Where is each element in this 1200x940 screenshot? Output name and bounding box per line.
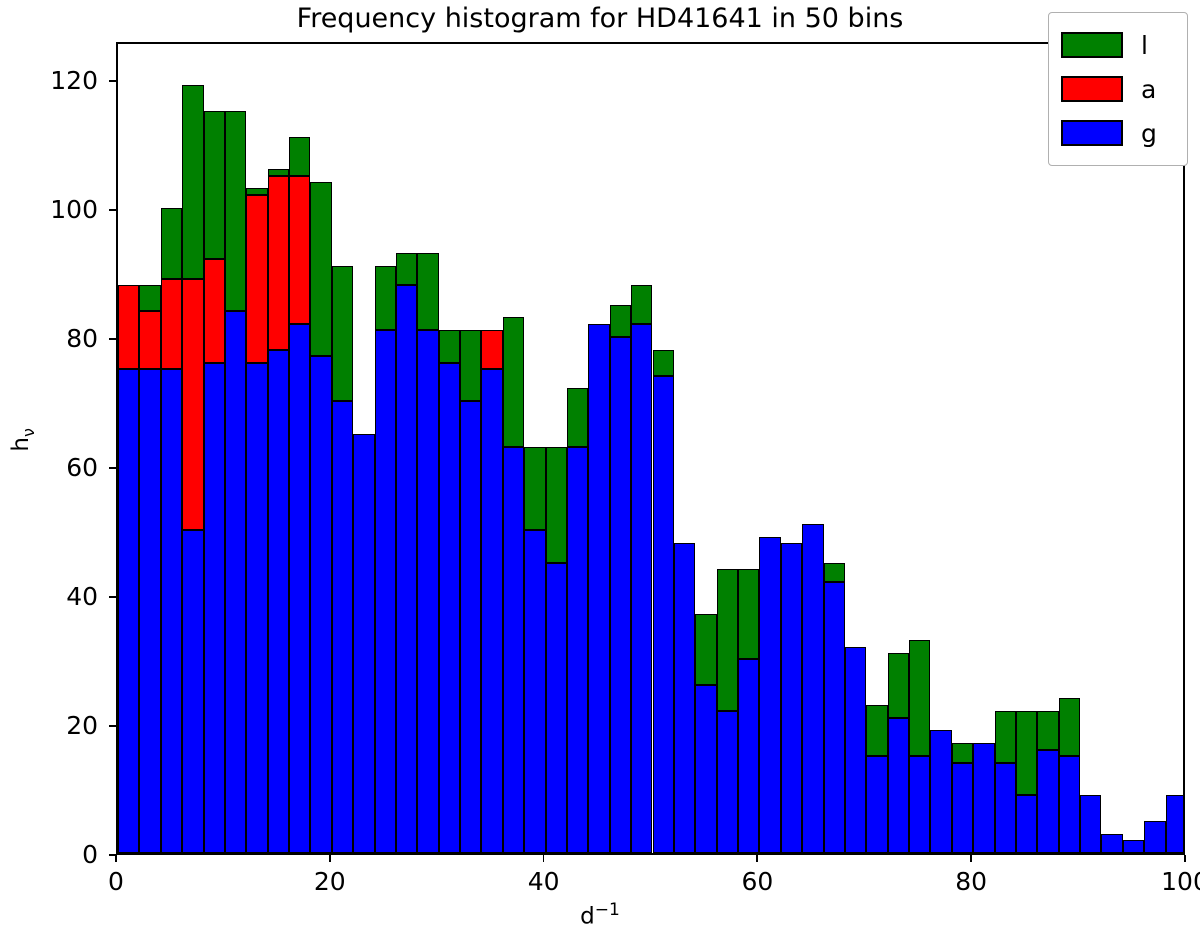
bar-segment-g <box>610 337 631 853</box>
bar-segment-g <box>674 543 695 853</box>
legend-item: l <box>1061 23 1173 67</box>
bar-segment-a <box>289 176 310 324</box>
bar-segment-g <box>182 530 203 853</box>
bar-segment-g <box>695 685 716 853</box>
bar-segment-g <box>631 324 652 853</box>
histogram-bar <box>246 42 267 853</box>
bar-segment-l <box>268 169 289 175</box>
histogram-bar <box>332 42 353 853</box>
histogram-bar <box>439 42 460 853</box>
bar-segment-l <box>738 569 759 659</box>
x-tick-label: 40 <box>499 869 589 894</box>
histogram-bar <box>973 42 994 853</box>
x-tick-label: 20 <box>285 869 375 894</box>
bar-segment-l <box>375 266 396 331</box>
bar-segment-l <box>824 563 845 582</box>
x-tick-mark <box>1184 855 1186 862</box>
bar-segment-l <box>995 711 1016 763</box>
histogram-bar <box>674 42 695 853</box>
histogram-bar <box>503 42 524 853</box>
bar-segment-g <box>289 324 310 853</box>
bar-segment-l <box>204 111 225 259</box>
bar-segment-g <box>1123 840 1144 853</box>
bar-segment-g <box>1144 821 1165 853</box>
bar-segment-g <box>1037 750 1058 853</box>
bar-segment-g <box>396 285 417 853</box>
bar-segment-g <box>845 647 866 853</box>
bar-segment-g <box>653 376 674 853</box>
bar-segment-l <box>866 705 887 757</box>
bar-segment-g <box>888 718 909 854</box>
histogram-bar <box>866 42 887 853</box>
bar-segment-l <box>417 253 438 330</box>
bar-segment-l <box>139 285 160 311</box>
bar-segment-l <box>631 285 652 324</box>
bar-segment-l <box>524 447 545 531</box>
bar-segment-l <box>546 447 567 563</box>
bar-segment-l <box>182 85 203 279</box>
histogram-bar <box>888 42 909 853</box>
bar-segment-g <box>824 582 845 853</box>
histogram-bar <box>738 42 759 853</box>
bar-segment-l <box>952 743 973 762</box>
bar-segment-l <box>717 569 738 711</box>
bar-segment-g <box>246 363 267 853</box>
x-tick-mark <box>756 855 758 862</box>
histogram-bar <box>824 42 845 853</box>
bar-segment-a <box>268 176 289 350</box>
legend-label-g: g <box>1141 121 1157 146</box>
bar-segment-g <box>310 356 331 853</box>
histogram-bar <box>204 42 225 853</box>
histogram-bar <box>610 42 631 853</box>
bar-segment-g <box>588 324 609 853</box>
histogram-bar <box>353 42 374 853</box>
x-tick-label: 100 <box>1140 869 1200 894</box>
bar-segment-g <box>567 447 588 854</box>
bar-segment-l <box>439 330 460 362</box>
histogram-bar <box>1016 42 1037 853</box>
bar-segment-a <box>118 285 139 369</box>
bar-segment-l <box>396 253 417 285</box>
bar-segment-g <box>503 447 524 854</box>
histogram-bar <box>139 42 160 853</box>
bar-segment-g <box>802 524 823 853</box>
bar-segment-g <box>460 401 481 853</box>
histogram-bar <box>546 42 567 853</box>
bar-segment-g <box>118 369 139 853</box>
bar-segment-g <box>481 369 502 853</box>
bar-segment-l <box>610 305 631 337</box>
bar-segment-g <box>1080 795 1101 853</box>
bar-segment-a <box>246 195 267 363</box>
bar-segment-g <box>225 311 246 853</box>
bar-segment-g <box>1016 795 1037 853</box>
bar-segment-l <box>888 653 909 718</box>
legend-item: g <box>1061 111 1173 155</box>
histogram-bar <box>182 42 203 853</box>
bar-segment-g <box>524 530 545 853</box>
histogram-bar <box>289 42 310 853</box>
histogram-bar <box>802 42 823 853</box>
bar-segment-g <box>332 401 353 853</box>
histogram-bar <box>417 42 438 853</box>
histogram-bar <box>310 42 331 853</box>
bar-segment-l <box>909 640 930 756</box>
bar-segment-l <box>460 330 481 401</box>
histogram-bar <box>225 42 246 853</box>
bar-segment-a <box>139 311 160 369</box>
bar-segment-a <box>182 279 203 531</box>
legend-swatch-a <box>1061 76 1123 102</box>
histogram-bar <box>588 42 609 853</box>
histogram-bar <box>481 42 502 853</box>
legend-item: a <box>1061 67 1173 111</box>
histogram-bar <box>118 42 139 853</box>
bar-segment-g <box>139 369 160 853</box>
legend-swatch-g <box>1061 120 1123 146</box>
legend-label-a: a <box>1141 77 1156 102</box>
histogram-bar <box>396 42 417 853</box>
bar-segment-g <box>1166 795 1185 853</box>
bar-segment-g <box>738 659 759 853</box>
histogram-bar <box>567 42 588 853</box>
histogram-bar <box>695 42 716 853</box>
bar-segment-g <box>1059 756 1080 853</box>
bar-segment-g <box>759 537 780 853</box>
bars-layer <box>118 44 1183 853</box>
x-tick-mark <box>329 855 331 862</box>
bar-segment-l <box>310 182 331 356</box>
legend-label-l: l <box>1141 33 1148 58</box>
bar-segment-g <box>161 369 182 853</box>
histogram-figure: Frequency histogram for HD41641 in 50 bi… <box>0 0 1200 940</box>
histogram-bar <box>375 42 396 853</box>
bar-segment-g <box>439 363 460 853</box>
bar-segment-g <box>952 763 973 853</box>
x-tick-label: 0 <box>71 869 161 894</box>
histogram-bar <box>460 42 481 853</box>
plot-area <box>116 42 1185 855</box>
histogram-bar <box>845 42 866 853</box>
bar-segment-g <box>417 330 438 853</box>
bar-segment-a <box>204 259 225 362</box>
histogram-bar <box>952 42 973 853</box>
bar-segment-g <box>353 434 374 853</box>
bar-segment-l <box>653 350 674 376</box>
bar-segment-g <box>781 543 802 853</box>
bar-segment-a <box>161 279 182 369</box>
bar-segment-g <box>717 711 738 853</box>
histogram-bar <box>631 42 652 853</box>
bar-segment-g <box>375 330 396 853</box>
bar-segment-g <box>204 363 225 853</box>
bar-segment-g <box>268 350 289 853</box>
bar-segment-l <box>332 266 353 402</box>
histogram-bar <box>995 42 1016 853</box>
histogram-bar <box>781 42 802 853</box>
bar-segment-l <box>1016 711 1037 795</box>
bar-segment-l <box>161 208 182 279</box>
bar-segment-g <box>1101 834 1122 853</box>
bar-segment-l <box>1059 698 1080 756</box>
bar-segment-l <box>289 137 310 176</box>
legend[interactable]: l a g <box>1048 12 1188 166</box>
histogram-bar <box>161 42 182 853</box>
x-tick-mark <box>543 855 545 862</box>
histogram-bar <box>909 42 930 853</box>
bar-segment-l <box>567 388 588 446</box>
bar-segment-g <box>995 763 1016 853</box>
bar-segment-g <box>930 730 951 853</box>
histogram-bar <box>653 42 674 853</box>
bar-segment-g <box>909 756 930 853</box>
bar-segment-l <box>695 614 716 685</box>
bar-segment-g <box>973 743 994 853</box>
bar-segment-g <box>866 756 887 853</box>
bar-segment-l <box>246 188 267 194</box>
bar-segment-g <box>546 563 567 853</box>
x-tick-mark <box>115 855 117 862</box>
bar-segment-a <box>481 330 502 369</box>
legend-swatch-l <box>1061 32 1123 58</box>
x-tick-label: 60 <box>712 869 802 894</box>
x-tick-mark <box>970 855 972 862</box>
bar-segment-l <box>503 317 524 446</box>
bar-segment-l <box>225 111 246 311</box>
histogram-bar <box>717 42 738 853</box>
histogram-bar <box>524 42 545 853</box>
histogram-bar <box>759 42 780 853</box>
x-tick-label: 80 <box>926 869 1016 894</box>
bar-segment-l <box>1037 711 1058 750</box>
histogram-bar <box>268 42 289 853</box>
histogram-bar <box>930 42 951 853</box>
